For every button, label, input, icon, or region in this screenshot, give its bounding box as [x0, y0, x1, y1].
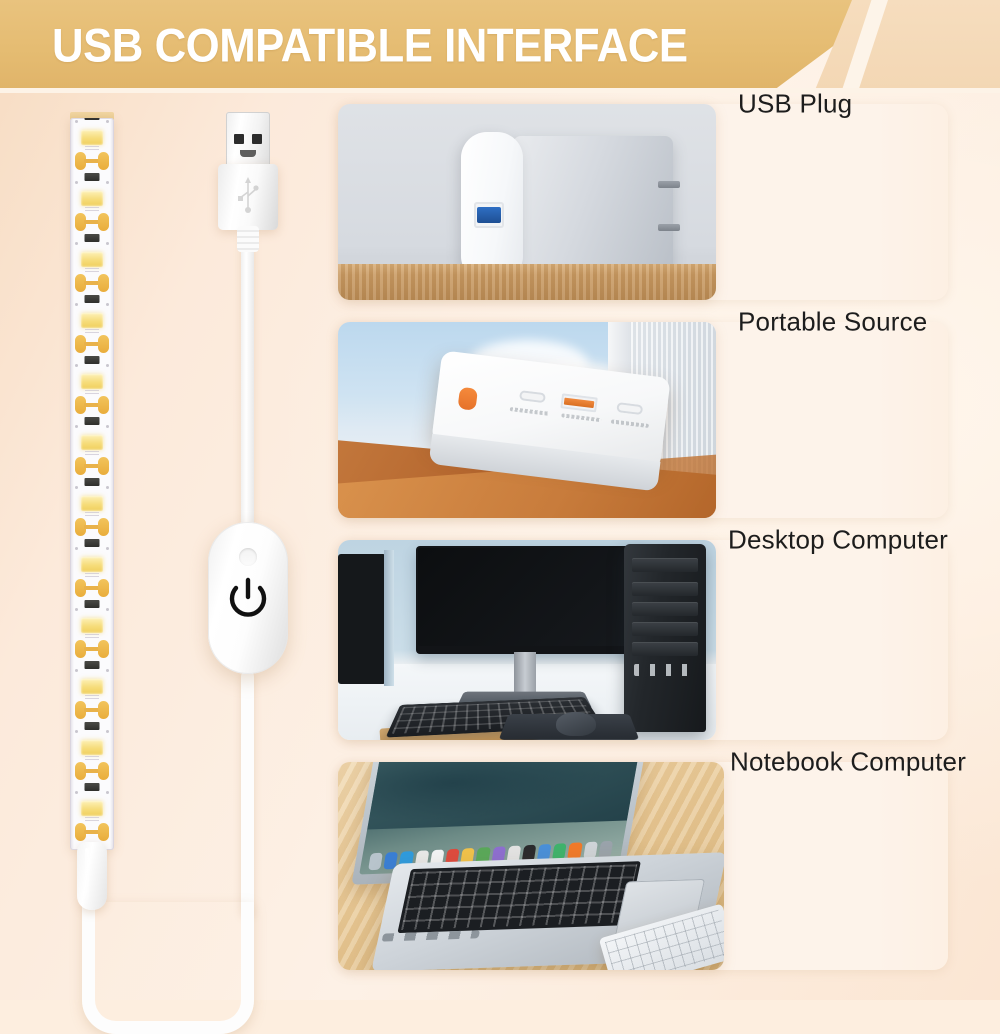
strip-silkscreen: [85, 329, 99, 334]
led-resistor: [85, 722, 100, 730]
led-chip: [81, 191, 103, 206]
led-chip: [81, 801, 103, 816]
led-chip: [81, 374, 103, 389]
cable-switch-to-loop: [241, 670, 254, 916]
wooden-shelf: [338, 264, 716, 300]
strip-silkscreen: [85, 207, 99, 212]
strip-mount-hole: [106, 547, 109, 550]
power-icon: [226, 577, 270, 623]
cable-bottom-loop: [82, 902, 254, 1034]
charger-body: [513, 136, 673, 284]
solder-pad: [98, 518, 109, 536]
strip-mount-hole: [75, 120, 78, 123]
strip-mount-hole: [106, 181, 109, 184]
plug-strain-relief: [237, 226, 259, 252]
led-strip: [70, 118, 114, 850]
strip-silkscreen: [85, 695, 99, 700]
usb-trident-icon: [235, 174, 261, 216]
strip-silkscreen: [85, 451, 99, 456]
solder-pad: [98, 335, 109, 353]
card-label: Portable Source: [738, 307, 927, 338]
strip-mount-hole: [106, 669, 109, 672]
led-segment: [70, 301, 114, 362]
strip-mount-hole: [106, 242, 109, 245]
strip-silkscreen: [85, 268, 99, 273]
card-label: USB Plug: [738, 89, 852, 120]
charger-front-face: [461, 132, 523, 282]
strip-mount-hole: [106, 425, 109, 428]
led-chip: [81, 496, 103, 511]
solder-pad: [98, 701, 109, 719]
led-resistor: [85, 118, 100, 120]
pc-tower: [624, 544, 706, 732]
strip-mount-hole: [75, 730, 78, 733]
charger-prong-top: [658, 181, 680, 188]
mouse: [556, 712, 596, 736]
tower-drive-bay: [632, 582, 698, 596]
led-segment: [70, 179, 114, 240]
strip-mount-hole: [75, 181, 78, 184]
strip-edge-right: [110, 118, 114, 850]
led-chip: [81, 679, 103, 694]
tower-drive-bay: [632, 602, 698, 616]
led-resistor: [85, 539, 100, 547]
card-label: Notebook Computer: [730, 747, 966, 778]
strip-mount-hole: [106, 791, 109, 794]
strip-mount-hole: [75, 425, 78, 428]
led-segment: [70, 484, 114, 545]
led-resistor: [85, 783, 100, 791]
led-segment: [70, 667, 114, 728]
led-chip: [81, 130, 103, 145]
usb-a-port-icon: [560, 393, 598, 412]
strip-silkscreen: [85, 634, 99, 639]
port-label-text: [611, 419, 649, 428]
tower-drive-bay: [632, 622, 698, 636]
led-chip: [81, 557, 103, 572]
tower-drive-bay: [632, 642, 698, 656]
strip-mount-hole: [106, 486, 109, 489]
desktop-computer-photo: [338, 540, 716, 740]
usb-c-port-icon: [616, 402, 643, 415]
led-resistor: [85, 356, 100, 364]
solder-pad: [98, 762, 109, 780]
led-chip: [81, 313, 103, 328]
card-label: Desktop Computer: [728, 525, 948, 556]
usb-contact-slot-right: [252, 134, 262, 144]
power-bank-photo: [338, 322, 716, 518]
strip-edge-left: [70, 118, 74, 850]
led-segment: [70, 606, 114, 667]
usb-c-port-icon: [519, 390, 546, 403]
secondary-monitor: [338, 554, 386, 684]
strip-mount-hole: [75, 547, 78, 550]
solder-pad: [98, 213, 109, 231]
power-bank-button: [457, 387, 478, 411]
led-resistor: [85, 295, 100, 303]
solder-pad: [98, 152, 109, 170]
notebook-computer-photo: [338, 762, 724, 970]
usb-wall-charger-photo: [338, 104, 716, 300]
port-label-text: [561, 413, 601, 422]
strip-silkscreen: [85, 390, 99, 395]
tower-front-io-ports: [634, 664, 696, 676]
solder-pad: [98, 457, 109, 475]
strip-silkscreen: [85, 756, 99, 761]
strip-mount-hole: [106, 608, 109, 611]
usb-a-plug: [218, 112, 278, 242]
charger-prong-bottom: [658, 224, 680, 231]
dock-icon: [368, 853, 383, 871]
led-segment: [70, 545, 114, 606]
led-chip: [81, 618, 103, 633]
product-illustration: [0, 90, 330, 1000]
strip-mount-hole: [106, 364, 109, 367]
strip-cable-boot: [77, 842, 107, 910]
tower-drive-bay: [632, 558, 698, 572]
led-resistor: [85, 173, 100, 181]
led-segment: [70, 728, 114, 789]
strip-silkscreen: [85, 817, 99, 822]
strip-mount-hole: [106, 303, 109, 306]
inline-power-switch[interactable]: [208, 522, 288, 674]
led-chip: [81, 740, 103, 755]
cable-plug-to-switch: [241, 228, 254, 528]
led-resistor: [85, 661, 100, 669]
led-segment: [70, 789, 114, 850]
strip-silkscreen: [85, 146, 99, 151]
switch-indicator-icon: [239, 548, 257, 566]
led-chip: [81, 435, 103, 450]
strip-mount-hole: [75, 303, 78, 306]
usb-connector-metal: [226, 112, 270, 170]
solder-pad: [98, 396, 109, 414]
led-resistor: [85, 478, 100, 486]
led-resistor: [85, 600, 100, 608]
solder-pad: [98, 579, 109, 597]
secondary-monitor-edge: [384, 550, 394, 686]
monitor-stand-neck: [514, 652, 536, 692]
usb-a-port-icon: [474, 202, 504, 228]
laptop-keyboard: [397, 861, 641, 933]
page-title: USB COMPATIBLE INTERFACE: [52, 18, 688, 73]
strip-mount-hole: [106, 730, 109, 733]
usb-connector-notch: [240, 150, 256, 157]
led-segment: [70, 240, 114, 301]
led-chip: [81, 252, 103, 267]
usb-contact-slot-left: [234, 134, 244, 144]
strip-mount-hole: [75, 669, 78, 672]
led-segment: [70, 362, 114, 423]
led-segment: [70, 423, 114, 484]
strip-mount-hole: [75, 364, 78, 367]
led-resistor: [85, 234, 100, 242]
strip-mount-hole: [75, 486, 78, 489]
compatible-source-list: USB Plug: [338, 104, 1000, 990]
led-resistor: [85, 417, 100, 425]
primary-monitor: [416, 546, 644, 654]
strip-mount-hole: [75, 791, 78, 794]
infographic-page: USB COMPATIBLE INTERFACE: [0, 0, 1000, 1000]
solder-pad: [98, 274, 109, 292]
solder-pad: [98, 640, 109, 658]
led-strip-pcb: [70, 118, 114, 850]
strip-mount-hole: [75, 242, 78, 245]
usb-plug-housing: [218, 164, 278, 230]
strip-mount-hole: [106, 120, 109, 123]
port-label-text: [510, 407, 550, 416]
solder-pad: [98, 823, 109, 841]
strip-mount-hole: [75, 608, 78, 611]
strip-silkscreen: [85, 512, 99, 517]
led-segment: [70, 118, 114, 179]
strip-silkscreen: [85, 573, 99, 578]
header-banner: USB COMPATIBLE INTERFACE: [0, 0, 1000, 90]
laptop-side-ports: [382, 930, 480, 941]
